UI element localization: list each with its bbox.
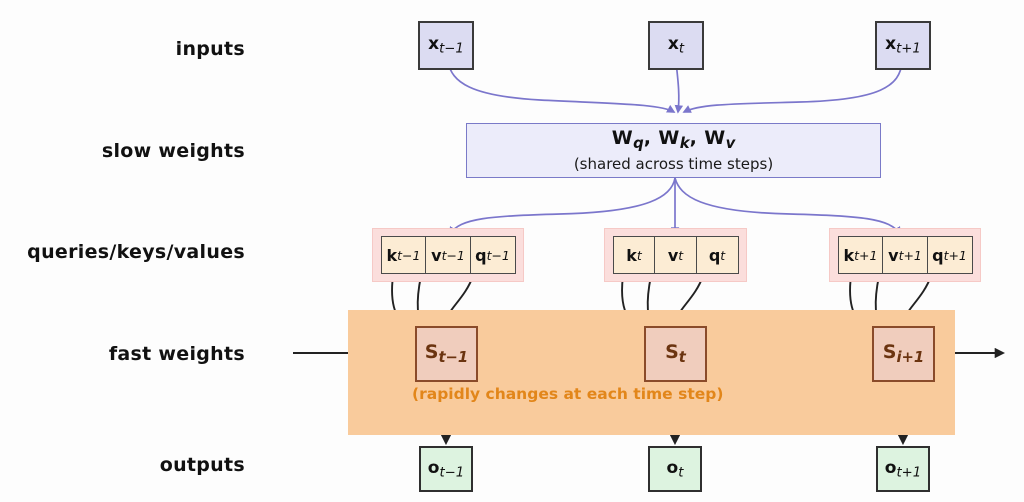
slow-weights-box[interactable]: Wq, Wk, Wv (shared across time steps) <box>466 123 881 178</box>
state-box-i-plus-1[interactable]: Si+1 <box>872 326 935 382</box>
row-label-fast-weights: fast weights <box>60 343 245 365</box>
output-label-t-plus-1: ot+1 <box>885 458 921 481</box>
qkv-row: kt+1 vt+1 qt+1 <box>838 236 973 274</box>
output-box-t[interactable]: ot <box>648 446 702 492</box>
qkv-row: kt vt qt <box>613 236 739 274</box>
arrows-slow-to-qkv <box>450 178 900 234</box>
state-label-t: St <box>665 341 686 366</box>
slow-weights-formula: Wq, Wk, Wv <box>612 127 735 154</box>
row-label-slow-weights: slow weights <box>60 140 245 162</box>
qkv-cell-q[interactable]: qt+1 <box>927 236 973 274</box>
input-label-t-plus-1: xt+1 <box>885 34 921 57</box>
input-label-t-minus-1: xt−1 <box>428 34 464 57</box>
qkv-cell-q[interactable]: qt <box>696 236 739 274</box>
row-label-outputs: outputs <box>60 454 245 476</box>
diagram-canvas: inputs slow weights queries/keys/values … <box>0 0 1024 502</box>
qkv-cell-v[interactable]: vt <box>654 236 697 274</box>
qkv-row: kt−1 vt−1 qt−1 <box>381 236 516 274</box>
qkv-cell-v[interactable]: vt+1 <box>882 236 928 274</box>
input-label-t: xt <box>668 34 684 57</box>
qkv-group-t[interactable]: kt vt qt <box>604 228 747 282</box>
qkv-cell-k[interactable]: kt+1 <box>838 236 884 274</box>
qkv-cell-q[interactable]: qt−1 <box>470 236 516 274</box>
qkv-group-t-plus-1[interactable]: kt+1 vt+1 qt+1 <box>829 228 981 282</box>
input-box-t-minus-1[interactable]: xt−1 <box>418 21 474 70</box>
qkv-cell-k[interactable]: kt−1 <box>381 236 427 274</box>
output-label-t-minus-1: ot−1 <box>428 458 464 481</box>
state-box-t-minus-1[interactable]: St−1 <box>415 326 478 382</box>
qkv-cell-v[interactable]: vt−1 <box>425 236 471 274</box>
row-label-queries-keys-values: queries/keys/values <box>0 241 245 263</box>
output-box-t-plus-1[interactable]: ot+1 <box>876 446 930 492</box>
state-box-t[interactable]: St <box>644 326 707 382</box>
row-label-inputs: inputs <box>60 38 245 60</box>
qkv-group-t-minus-1[interactable]: kt−1 vt−1 qt−1 <box>372 228 524 282</box>
input-box-t[interactable]: xt <box>648 21 704 70</box>
qkv-cell-k[interactable]: kt <box>613 236 656 274</box>
state-label-i-plus-1: Si+1 <box>883 341 924 366</box>
slow-weights-subtitle: (shared across time steps) <box>574 155 773 174</box>
fast-weights-note: (rapidly changes at each time step) <box>412 385 723 403</box>
state-label-t-minus-1: St−1 <box>425 341 469 366</box>
output-box-t-minus-1[interactable]: ot−1 <box>419 446 473 492</box>
input-box-t-plus-1[interactable]: xt+1 <box>875 21 931 70</box>
output-label-t: ot <box>667 458 684 481</box>
